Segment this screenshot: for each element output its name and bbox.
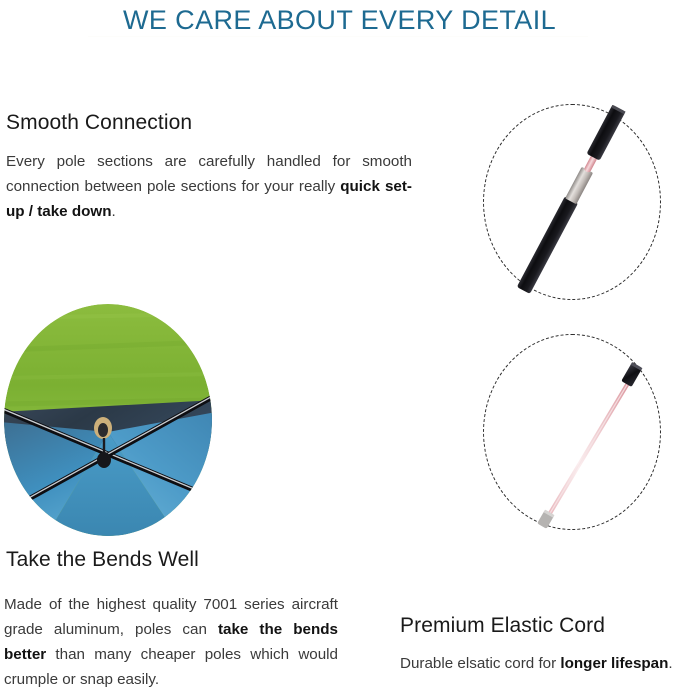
- heading-smooth-connection: Smooth Connection: [6, 110, 192, 136]
- elastic-cord-photo: [483, 334, 661, 530]
- body-take-the-bends-well: Made of the highest quality 7001 series …: [4, 592, 338, 692]
- body-premium-elastic-cord: Durable elsatic cord for longer lifespan…: [400, 652, 678, 676]
- product-detail-infographic: WE CARE ABOUT EVERY DETAIL: [0, 0, 679, 697]
- pole-connection-illustration: [484, 105, 660, 299]
- tent-poles-photo: [4, 304, 212, 536]
- heading-premium-elastic-cord: Premium Elastic Cord: [400, 613, 605, 639]
- title-underline-rule: [88, 36, 588, 37]
- tent-poles-illustration: [4, 304, 212, 536]
- heading-take-the-bends-well: Take the Bends Well: [6, 547, 199, 573]
- elastic-cord-illustration: [484, 335, 660, 529]
- page-title: WE CARE ABOUT EVERY DETAIL: [0, 4, 679, 36]
- pole-connection-photo: [483, 104, 661, 300]
- body-smooth-connection: Every pole sections are carefully handle…: [6, 149, 412, 224]
